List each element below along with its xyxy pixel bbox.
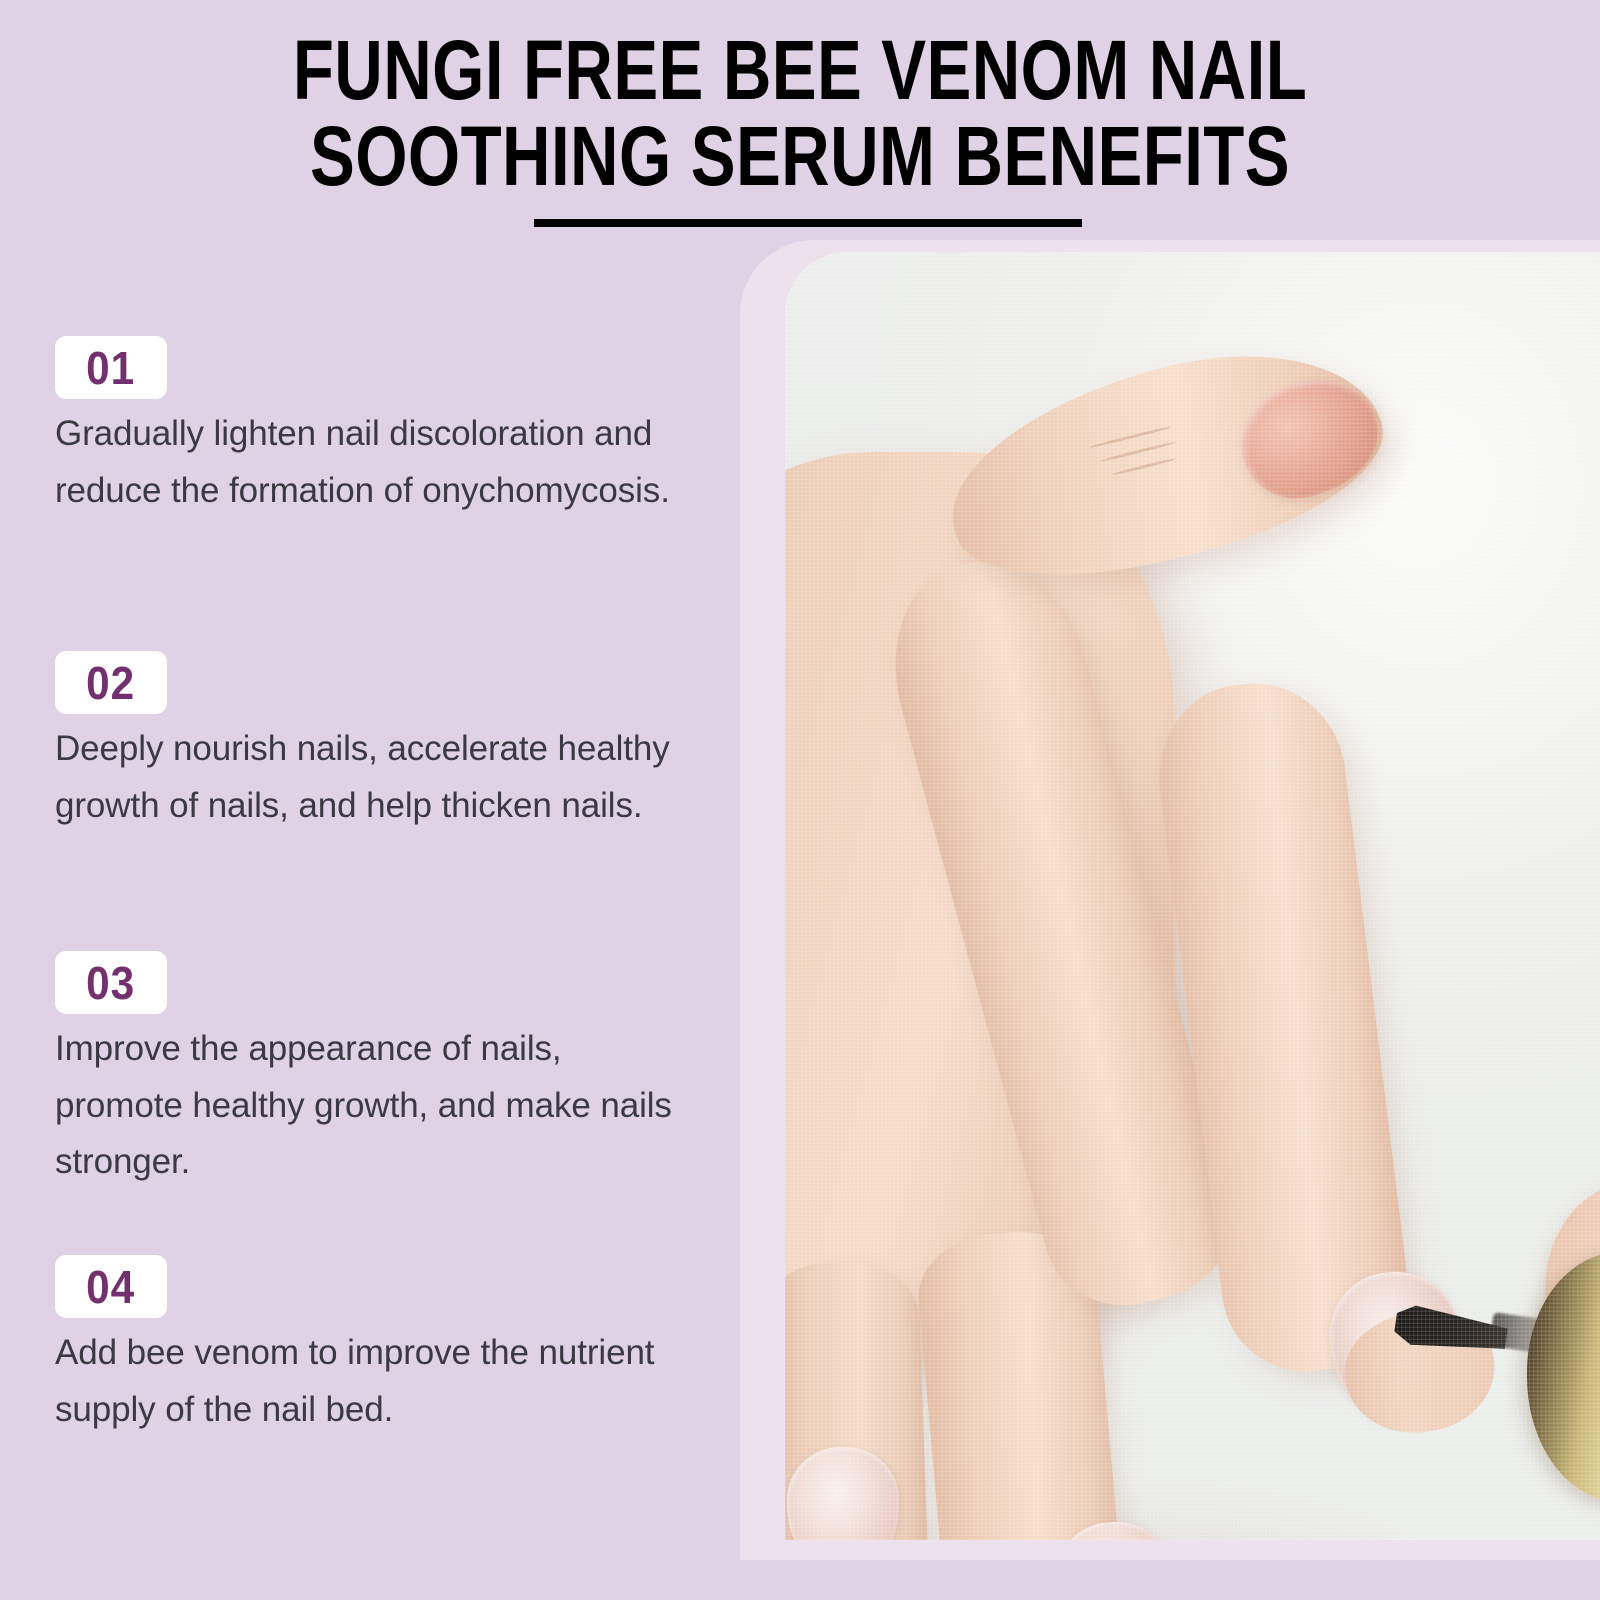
benefit-number-badge-01: 01: [55, 336, 167, 399]
benefit-number-badge-04: 04: [55, 1255, 167, 1318]
benefit-text-01: Gradually lighten nail discoloration and…: [55, 406, 695, 519]
page-title: FUNGI FREE BEE VENOM NAIL SOOTHING SERUM…: [0, 28, 1600, 199]
benefit-number-02: 02: [87, 660, 136, 706]
title-line-2: SOOTHING SERUM BENEFITS: [160, 114, 1440, 200]
benefit-number-04: 04: [87, 1264, 136, 1310]
infographic-poster: FUNGI FREE BEE VENOM NAIL SOOTHING SERUM…: [0, 0, 1600, 1600]
benefit-text-02: Deeply nourish nails, accelerate healthy…: [55, 721, 695, 834]
benefit-number-03: 03: [87, 960, 136, 1006]
product-photo: [785, 252, 1600, 1540]
benefit-number-badge-03: 03: [55, 951, 167, 1014]
benefit-number-01: 01: [87, 345, 136, 391]
benefit-text-03: Improve the appearance of nails, promote…: [55, 1021, 695, 1191]
benefit-number-badge-02: 02: [55, 651, 167, 714]
benefit-text-04: Add bee venom to improve the nutrient su…: [55, 1325, 695, 1438]
photo-grain-overlay: [785, 252, 1600, 1540]
title-divider-rule: [534, 219, 1082, 227]
title-line-1: FUNGI FREE BEE VENOM NAIL: [160, 28, 1440, 114]
